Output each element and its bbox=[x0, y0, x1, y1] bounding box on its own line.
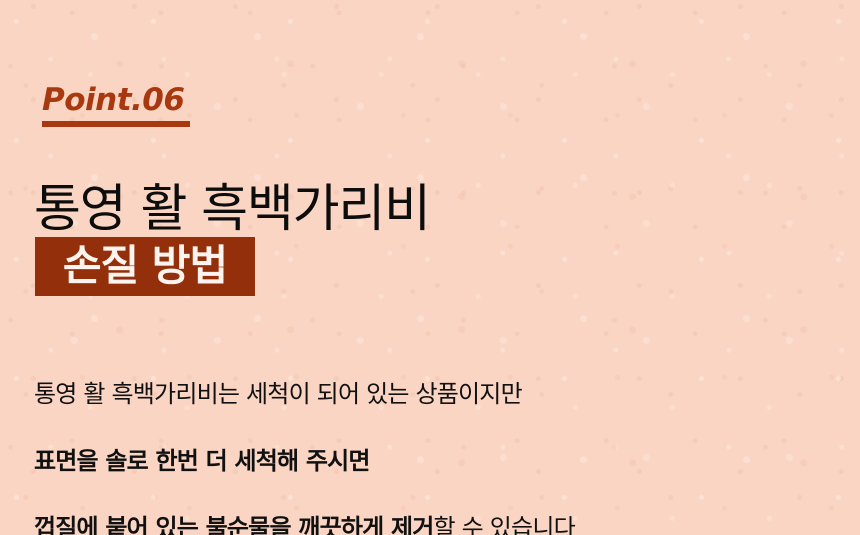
promo-banner: Point.06 통영 활 흑백가리비 손질 방법 통영 활 흑백가리비는 세척… bbox=[0, 0, 860, 535]
body-line-3: 껍질에 붙어 있는 불순물을 깨끗하게 제거할 수 있습니다 bbox=[34, 507, 824, 535]
body-line-2-segment-1: 표면을 솔로 한번 더 세척해 주시면 bbox=[34, 447, 370, 475]
body-line-1: 통영 활 흑백가리비는 세척이 되어 있는 상품이지만 bbox=[34, 373, 824, 416]
body-line-2: 표면을 솔로 한번 더 세척해 주시면 bbox=[34, 440, 824, 483]
body-line-3-segment-2: 할 수 있습니다 bbox=[434, 514, 575, 535]
point-number-underline bbox=[42, 121, 190, 127]
body-line-3-segment-1: 껍질에 붙어 있는 불순물을 깨끗하게 제거 bbox=[34, 514, 434, 535]
body-copy-block: 통영 활 흑백가리비는 세척이 되어 있는 상품이지만 표면을 솔로 한번 더 … bbox=[34, 349, 824, 535]
method-highlight-chip: 손질 방법 bbox=[35, 237, 255, 296]
method-chip-label: 손질 방법 bbox=[63, 245, 227, 287]
body-line-1-segment-1: 통영 활 흑백가리비는 세척이 되어 있는 상품이지만 bbox=[34, 380, 522, 408]
point-number-label: Point.06 bbox=[42, 85, 184, 116]
page-title: 통영 활 흑백가리비 bbox=[34, 182, 430, 238]
